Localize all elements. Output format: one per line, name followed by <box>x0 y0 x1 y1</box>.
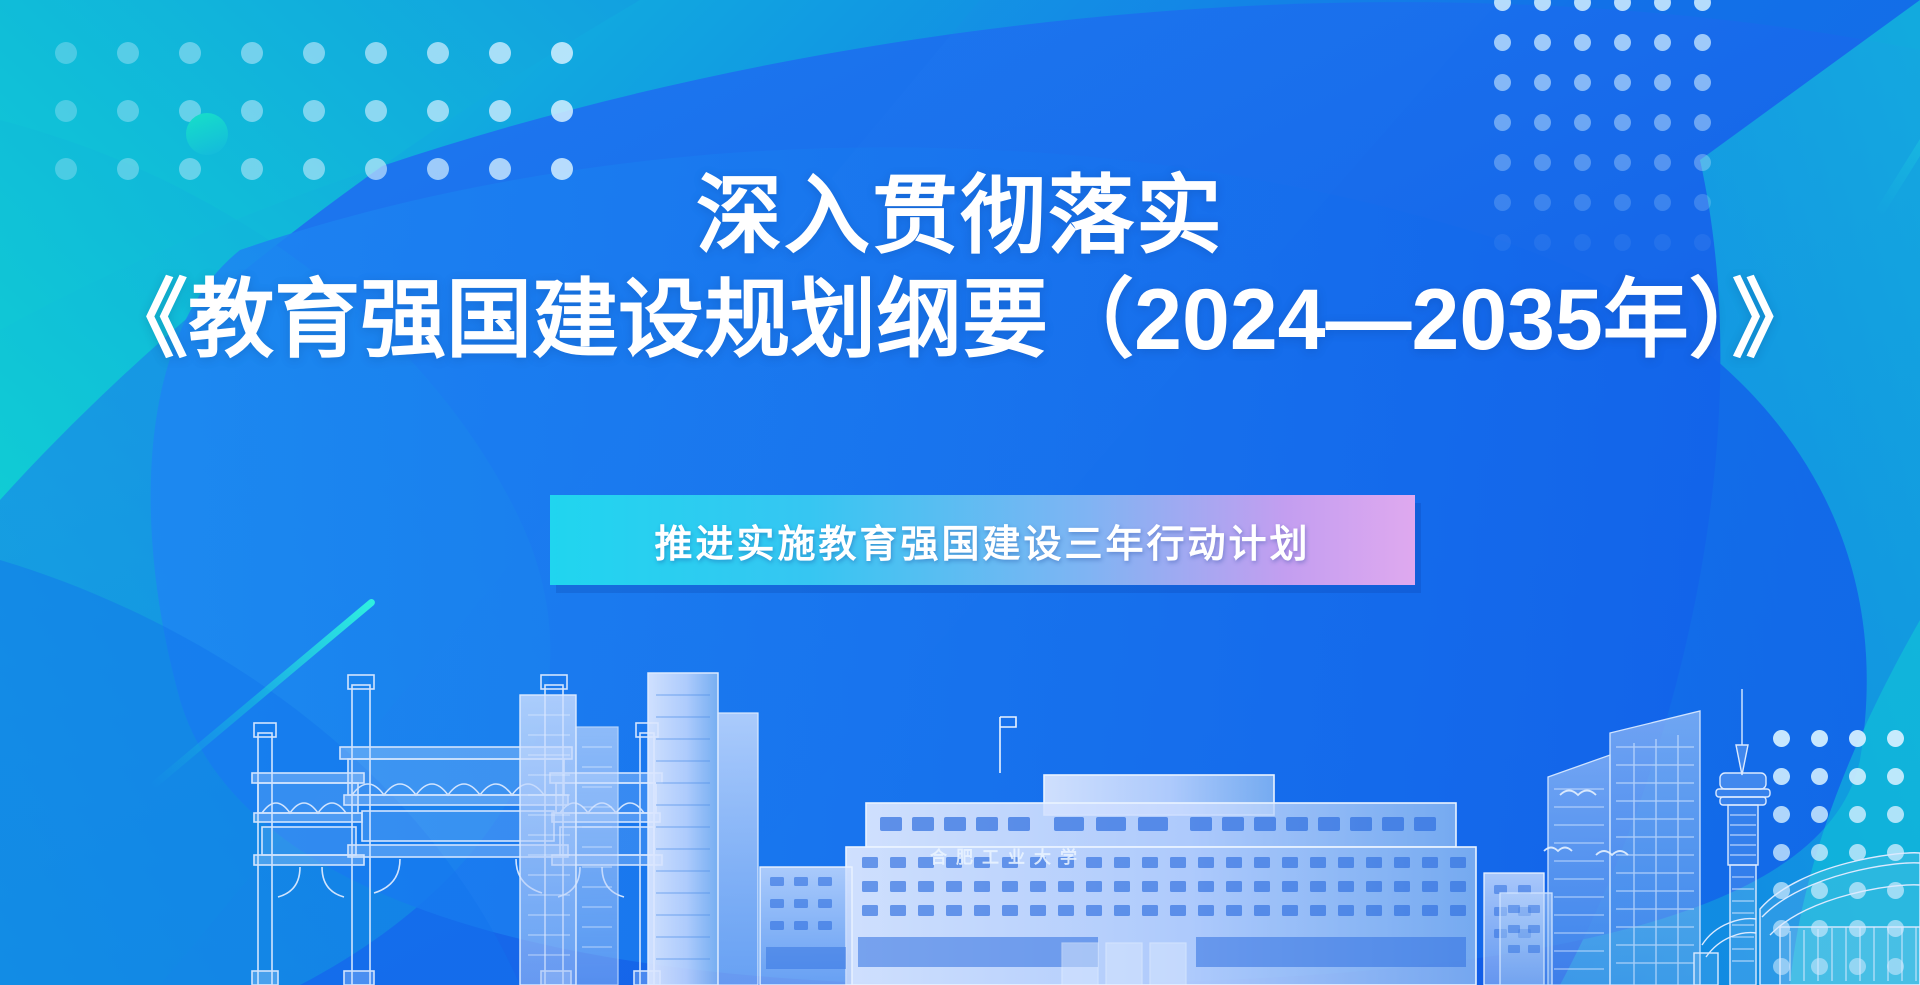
decorative-dot <box>365 100 387 122</box>
decorative-dot <box>489 100 511 122</box>
decorative-dot <box>1494 34 1511 51</box>
decorative-dot <box>1654 74 1671 91</box>
decorative-dot <box>1534 74 1551 91</box>
page-title-line-2: 《教育强国建设规划纲要（2024—2035年）》 <box>0 272 1920 368</box>
decorative-dot <box>1534 114 1551 131</box>
decorative-dot <box>241 100 263 122</box>
decorative-dot <box>1694 114 1711 131</box>
decorative-dot <box>1574 114 1591 131</box>
decorative-dot <box>1614 74 1631 91</box>
decorative-dot <box>1694 34 1711 51</box>
headline-block: 深入贯彻落实 《教育强国建设规划纲要（2024—2035年）》 <box>0 168 1920 369</box>
decorative-dot <box>55 100 77 122</box>
page-title-line-1: 深入贯彻落实 <box>0 168 1920 264</box>
decorative-dot <box>1614 0 1631 11</box>
decorative-dot <box>1574 0 1591 11</box>
decorative-dot <box>1574 34 1591 51</box>
decorative-dot <box>55 42 77 64</box>
decorative-dot <box>1654 34 1671 51</box>
decorative-dot <box>1614 34 1631 51</box>
decorative-dot <box>1574 74 1591 91</box>
decorative-dot <box>1694 74 1711 91</box>
teal-circle-decoration <box>186 113 228 155</box>
university-building-sign: 合肥工业大学 <box>930 843 1086 868</box>
decorative-dot <box>1654 114 1671 131</box>
decorative-dot <box>365 42 387 64</box>
city-skyline-illustration <box>0 655 1920 985</box>
decorative-dot <box>117 100 139 122</box>
decorative-dot <box>303 42 325 64</box>
stadium-icon <box>1694 853 1920 985</box>
left-wing-building <box>760 867 852 985</box>
poster-root: 深入贯彻落实 《教育强国建设规划纲要（2024—2035年）》 推进实施教育强国… <box>0 0 1920 985</box>
decorative-dot <box>1494 74 1511 91</box>
decorative-dot <box>117 42 139 64</box>
decorative-dot <box>1494 0 1511 11</box>
right-skyscrapers-group <box>1500 711 1700 985</box>
subtitle-banner: 推进实施教育强国建设三年行动计划 <box>550 495 1415 585</box>
decorative-dot <box>427 100 449 122</box>
decorative-dot <box>1654 0 1671 11</box>
decorative-dot <box>551 100 573 122</box>
decorative-dot <box>1534 0 1551 11</box>
subtitle-text: 推进实施教育强国建设三年行动计划 <box>654 513 1310 568</box>
decorative-dot <box>551 42 573 64</box>
decorative-dot <box>427 42 449 64</box>
decorative-dot <box>241 42 263 64</box>
decorative-dot <box>1494 114 1511 131</box>
decorative-dot <box>1694 0 1711 11</box>
decorative-dot <box>1534 34 1551 51</box>
decorative-dot <box>489 42 511 64</box>
decorative-dot <box>179 42 201 64</box>
decorative-dot <box>303 100 325 122</box>
decorative-dot <box>1614 114 1631 131</box>
